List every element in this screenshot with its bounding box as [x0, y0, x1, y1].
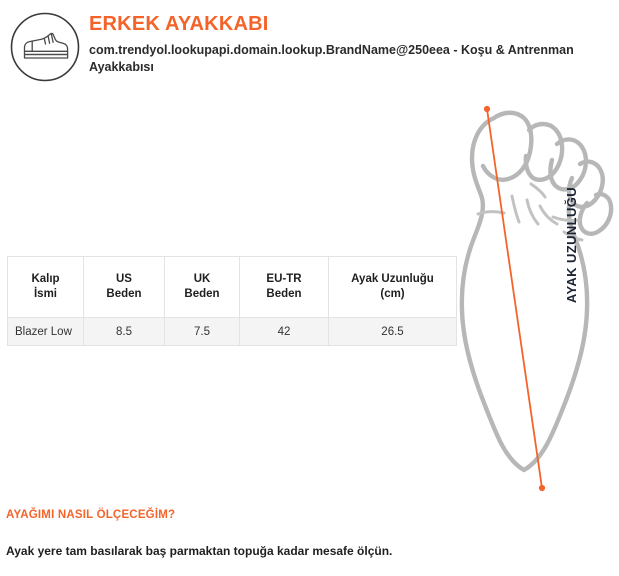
measure-heading: AYAĞIMI NASIL ÖLÇECEĞİM?	[6, 509, 175, 521]
column-header-us-beden: US Beden	[84, 257, 165, 318]
header-line-2: (cm)	[380, 288, 404, 300]
header-line-1: Ayak Uzunluğu	[351, 273, 434, 285]
page-title: ERKEK AYAKKABI	[89, 12, 609, 36]
foot-sole-diagram	[430, 92, 619, 500]
measure-note: Ayak yere tam basılarak baş parmaktan to…	[6, 544, 392, 558]
header-line-2: Beden	[106, 288, 141, 300]
header-line-2: Beden	[184, 288, 219, 300]
header-line-1: Kalıp	[31, 273, 59, 285]
header-line-1: EU-TR	[266, 273, 301, 285]
column-header-kalip-ismi: Kalıp İsmi	[8, 257, 84, 318]
cell-us-beden: 8.5	[84, 318, 165, 346]
cell-uk-beden: 7.5	[165, 318, 240, 346]
cell-kalip-ismi: Blazer Low	[8, 318, 84, 346]
table-row: Blazer Low 8.5 7.5 42 26.5	[8, 318, 457, 346]
page-subtitle: com.trendyol.lookupapi.domain.lookup.Bra…	[89, 42, 599, 76]
foot-length-label: AYAK UZUNLUĞU	[563, 180, 581, 310]
table-header-row: Kalıp İsmi US Beden UK Beden EU-TR Beden…	[8, 257, 457, 318]
header-line-1: US	[116, 273, 132, 285]
cell-eu-tr-beden: 42	[240, 318, 329, 346]
sneaker-icon	[8, 10, 82, 84]
header-line-2: İsmi	[34, 288, 57, 300]
header-line-1: UK	[194, 273, 211, 285]
header-line-2: Beden	[266, 288, 301, 300]
column-header-eu-tr-beden: EU-TR Beden	[240, 257, 329, 318]
foot-length-arrow	[484, 106, 545, 491]
page-header: ERKEK AYAKKABI com.trendyol.lookupapi.do…	[0, 0, 619, 92]
header-text-block: ERKEK AYAKKABI com.trendyol.lookupapi.do…	[89, 12, 609, 76]
column-header-uk-beden: UK Beden	[165, 257, 240, 318]
size-chart-table: Kalıp İsmi US Beden UK Beden EU-TR Beden…	[7, 256, 457, 346]
